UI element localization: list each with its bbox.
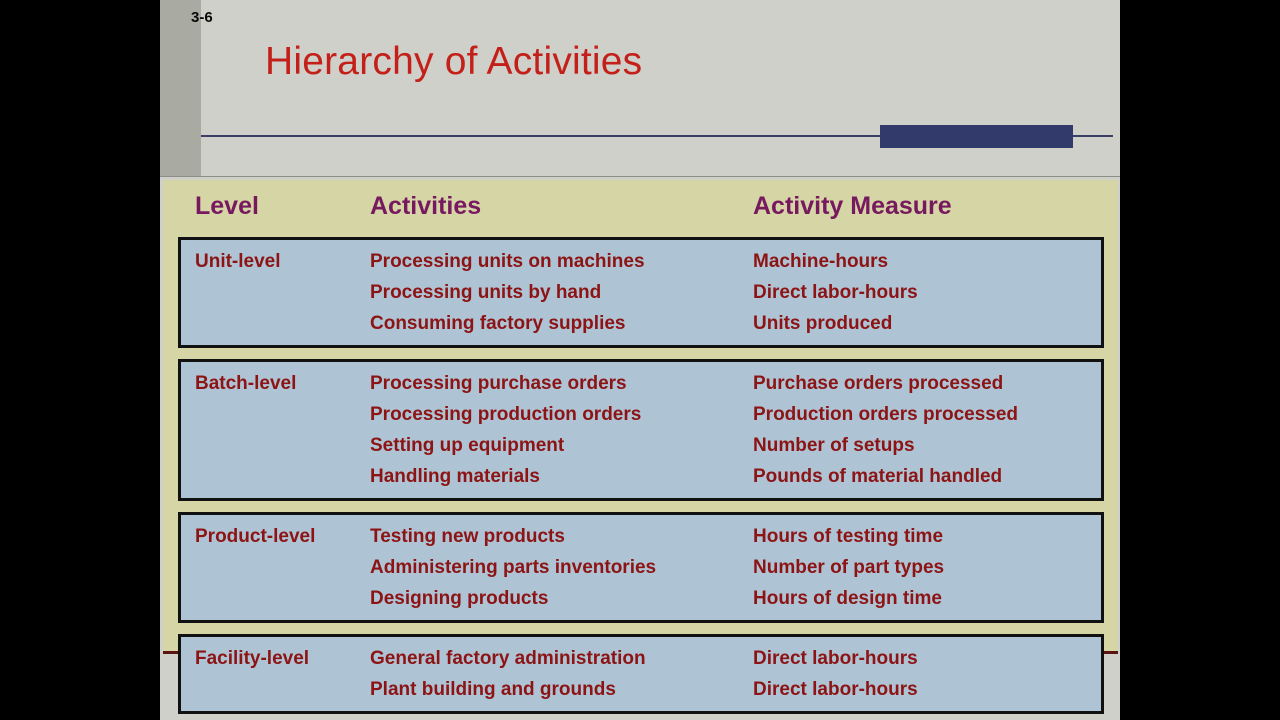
cell-activity-measure: Pounds of material handled: [753, 461, 1002, 492]
cell-level: Product-level: [195, 521, 315, 552]
cell-level: Batch-level: [195, 368, 296, 399]
table-row: Product-levelTesting new productsHours o…: [181, 521, 1101, 552]
cell-activity: General factory administration: [370, 643, 646, 674]
presentation-slide: 3-6 Hierarchy of Activities Level Activi…: [160, 0, 1120, 720]
table-row: Plant building and groundsDirect labor-h…: [181, 674, 1101, 705]
cell-activity-measure: Hours of design time: [753, 583, 942, 614]
cell-activity-measure: Purchase orders processed: [753, 368, 1003, 399]
table-row: Designing productsHours of design time: [181, 583, 1101, 614]
table-row: Batch-levelProcessing purchase ordersPur…: [181, 368, 1101, 399]
header-separator: [160, 176, 1120, 177]
table-row: Facility-levelGeneral factory administra…: [181, 643, 1101, 674]
table-row: Setting up equipmentNumber of setups: [181, 430, 1101, 461]
cell-level: Facility-level: [195, 643, 309, 674]
column-header-activity-measure: Activity Measure: [753, 194, 952, 219]
table-row: Unit-levelProcessing units on machinesMa…: [181, 246, 1101, 277]
activity-group-block: Facility-levelGeneral factory administra…: [178, 634, 1104, 714]
cell-activity-measure: Production orders processed: [753, 399, 1018, 430]
cell-activity-measure: Number of setups: [753, 430, 915, 461]
cell-activity: Testing new products: [370, 521, 565, 552]
table-row: Handling materialsPounds of material han…: [181, 461, 1101, 492]
table-row: Processing production ordersProduction o…: [181, 399, 1101, 430]
cell-activity-measure: Direct labor-hours: [753, 277, 918, 308]
cell-activity: Plant building and grounds: [370, 674, 616, 705]
cell-activity: Setting up equipment: [370, 430, 564, 461]
cell-activity: Administering parts inventories: [370, 552, 656, 583]
cell-activity: Processing purchase orders: [370, 368, 627, 399]
cell-level: Unit-level: [195, 246, 281, 277]
title-accent-bar: [880, 125, 1073, 148]
activity-group-rows: Facility-levelGeneral factory administra…: [181, 637, 1101, 711]
activity-group-block: Product-levelTesting new productsHours o…: [178, 512, 1104, 623]
activity-group-rows: Batch-levelProcessing purchase ordersPur…: [181, 362, 1101, 498]
table-row: Consuming factory suppliesUnits produced: [181, 308, 1101, 339]
activity-group-block: Batch-levelProcessing purchase ordersPur…: [178, 359, 1104, 501]
cell-activity: Consuming factory supplies: [370, 308, 625, 339]
cell-activity-measure: Direct labor-hours: [753, 674, 918, 705]
table-row: Administering parts inventoriesNumber of…: [181, 552, 1101, 583]
cell-activity: Handling materials: [370, 461, 540, 492]
page-title: Hierarchy of Activities: [265, 42, 642, 81]
column-header-level: Level: [195, 194, 259, 219]
activity-group-block: Unit-levelProcessing units on machinesMa…: [178, 237, 1104, 348]
cell-activity-measure: Machine-hours: [753, 246, 888, 277]
cell-activity-measure: Number of part types: [753, 552, 944, 583]
activity-hierarchy-table: Level Activities Activity Measure Unit-l…: [163, 180, 1118, 654]
column-header-activities: Activities: [370, 194, 481, 219]
cell-activity: Processing units by hand: [370, 277, 601, 308]
table-row: Processing units by handDirect labor-hou…: [181, 277, 1101, 308]
cell-activity: Processing production orders: [370, 399, 641, 430]
cell-activity-measure: Direct labor-hours: [753, 643, 918, 674]
cell-activity-measure: Units produced: [753, 308, 892, 339]
slide-number: 3-6: [191, 10, 213, 25]
cell-activity: Processing units on machines: [370, 246, 645, 277]
activity-group-rows: Unit-levelProcessing units on machinesMa…: [181, 240, 1101, 345]
header-accent-band: [160, 0, 201, 176]
activity-group-rows: Product-levelTesting new productsHours o…: [181, 515, 1101, 620]
table-header-row: Level Activities Activity Measure: [163, 194, 1118, 234]
cell-activity: Designing products: [370, 583, 548, 614]
cell-activity-measure: Hours of testing time: [753, 521, 943, 552]
